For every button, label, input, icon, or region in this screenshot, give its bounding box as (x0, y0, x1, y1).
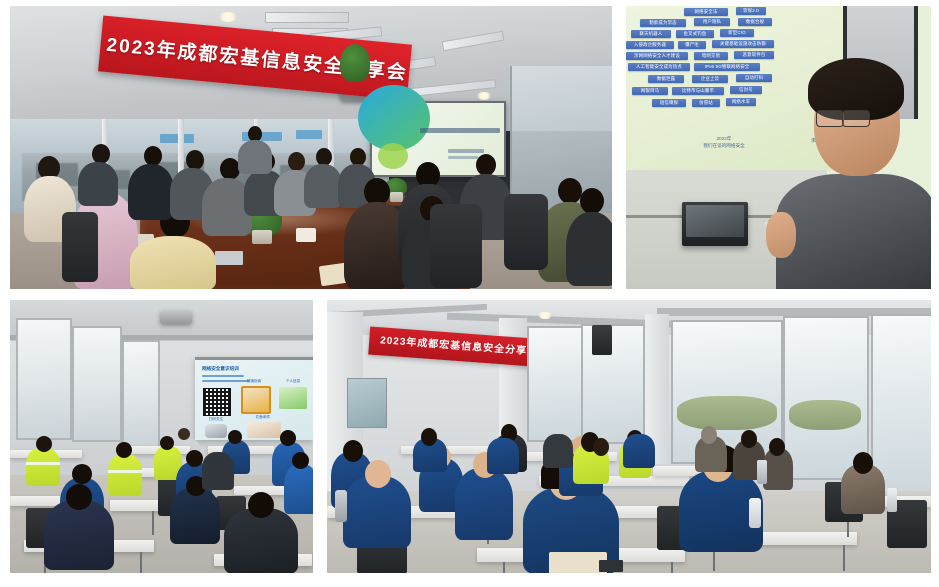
projection-screen: 网络安全意识培训 扫码关注 防骗指南 个人信息 钓鱼邮件 (195, 357, 313, 440)
laptop-screen (686, 205, 744, 237)
slide-tag: 入侵政企服务器 (626, 41, 674, 49)
downlight (218, 12, 238, 22)
person-head (769, 438, 785, 456)
person (128, 164, 174, 220)
person (566, 212, 612, 286)
person-head (186, 150, 204, 170)
slide-tile-image (241, 386, 271, 414)
attendee-blue-uniform (487, 438, 519, 474)
person-head (365, 460, 391, 488)
person-head (343, 440, 363, 462)
person-head (116, 442, 132, 458)
slide-graphic (358, 85, 430, 151)
panel-top-left-conference-room: 2023年成都宏基信息安全分享会 (10, 6, 612, 289)
person (304, 164, 342, 208)
slide-tile-image (279, 387, 307, 409)
slide-graphic (378, 143, 408, 169)
person-head (853, 452, 873, 474)
slide-date-bar (448, 156, 478, 159)
downlight (537, 312, 553, 319)
presenter-head (178, 428, 190, 440)
slide-tag: 短信嗅探 (652, 99, 686, 107)
slide-caption: 2022年 我们在谈的网络安全 (682, 135, 766, 149)
slide-tag: 新型CIO (720, 29, 754, 37)
thermos-bottle (335, 490, 347, 522)
person-head (476, 154, 496, 176)
slide-tag: 勒索成为常态 (640, 19, 686, 27)
slide-tag: 涉网网络安全人才建设 (626, 52, 688, 60)
qr-code-icon (203, 388, 231, 416)
attendee-blue-uniform (623, 434, 655, 468)
laptop-icon (682, 202, 748, 246)
window (122, 340, 160, 448)
slide-title-bar (420, 128, 500, 133)
slide-tag: 数据泄露 (648, 75, 684, 83)
person-head (186, 450, 203, 467)
slide-tag: 企业上云 (692, 75, 728, 83)
attendee-blue-uniform (284, 464, 313, 514)
attendee (44, 500, 114, 570)
attendee-safety-vest (108, 454, 142, 496)
outdoor-trees (677, 396, 777, 430)
tissue-box (296, 228, 316, 242)
slide-tile-image (247, 422, 281, 438)
window (527, 326, 583, 442)
water-bottle (887, 488, 897, 512)
slide-tile-image (205, 424, 227, 438)
slide-caption-year: 2022年 (682, 135, 766, 142)
plant-pot (390, 192, 403, 202)
slide-tag: 鱼叉式钓鱼 (676, 30, 714, 38)
person-head (72, 464, 92, 484)
slide-tile-label: 钓鱼邮件 (245, 415, 281, 420)
thermos-bottle (757, 460, 767, 484)
person-head (36, 436, 52, 452)
window (16, 318, 72, 440)
slide-tag: 恶意软件包 (734, 51, 774, 59)
slide-tag: 等保2.0 (736, 7, 766, 15)
photo-collage: 2023年成都宏基信息安全分享会 (0, 0, 939, 587)
plant (340, 44, 370, 82)
window (72, 326, 122, 442)
slide-tag: 网银目马 (632, 87, 668, 95)
glasses-icon (816, 110, 844, 127)
person-head (144, 146, 162, 166)
person-head (228, 430, 242, 444)
person-head (558, 178, 582, 204)
attendee-safety-vest (26, 448, 60, 486)
person-head (741, 430, 757, 448)
person-head (701, 426, 717, 444)
slide-tag: 僵尸毛 (678, 41, 706, 49)
attendee (170, 488, 220, 544)
office-chair (62, 212, 98, 282)
office-chair (430, 204, 482, 288)
slide-tag: 自动打码 (736, 74, 772, 82)
outdoor-trees (789, 400, 861, 430)
panel-bottom-left-classroom: 网络安全意识培训 扫码关注 防骗指南 个人信息 钓鱼邮件 (10, 300, 313, 573)
attendee (543, 434, 573, 468)
slide-caption-text: 我们在谈的网络安全 (682, 142, 766, 149)
person-head (92, 144, 110, 164)
person-head (580, 188, 604, 214)
downlight (476, 92, 492, 100)
person (130, 236, 216, 289)
slide-tag: 比特币与山寨币 (672, 87, 724, 95)
speaker-hand (766, 212, 796, 258)
attendee-blue-uniform (455, 468, 513, 540)
panel-top-right-speaker: 网络安全法 等保2.0 勒索成为常态 用户隐私 数据合规 聊天机器人 鱼叉式钓鱼… (626, 6, 931, 289)
slide-tag: 网络水军 (726, 98, 756, 106)
person-head (292, 452, 309, 469)
attendee (202, 452, 234, 490)
person-head (288, 152, 305, 171)
slide-tag: 数据合规 (738, 18, 772, 26)
speaker-box (592, 325, 612, 355)
slide-tag: 信封号 (730, 86, 762, 94)
person (238, 140, 272, 174)
person-head (593, 438, 609, 456)
phone-icon (599, 560, 623, 572)
phone-icon (215, 251, 243, 265)
person (78, 162, 118, 206)
person-head (248, 492, 274, 518)
slide-tag: 仿冒站 (692, 99, 720, 107)
slide-tile-label: 个人信息 (277, 379, 309, 384)
door-panel (347, 378, 387, 428)
person-head (160, 436, 174, 450)
glasses-icon (842, 110, 870, 127)
projector-icon (160, 310, 192, 324)
slide-tag: 聊天机器人 (631, 30, 671, 38)
plant-pot (252, 230, 272, 244)
ceiling-light-panel (265, 12, 349, 23)
slide-tag: IPv6 5G物联网络安全 (694, 63, 760, 71)
water-bottle (749, 498, 761, 528)
person-head (220, 158, 240, 180)
office-chair (504, 194, 548, 270)
slide-tag: 关键基础设施攻击防御 (712, 40, 774, 48)
slide-tile-label: 扫码关注 (199, 417, 233, 422)
window (671, 320, 783, 464)
slide-tag: 人工智能安全成为热点 (628, 63, 690, 71)
slide-tag: 暗网交易 (694, 52, 728, 60)
slide-tag: 网络安全法 (684, 8, 728, 16)
slide-subtitle-bar (448, 149, 484, 153)
slide-title: 网络安全意识培训 (202, 366, 239, 372)
panel-bottom-right-classroom: 2023年成都宏基信息安全分享会 (327, 300, 931, 573)
slide-tile-label: 防骗指南 (237, 379, 271, 384)
speaker-body (776, 174, 931, 289)
window (581, 324, 645, 444)
slide-tag: 用户隐私 (694, 18, 730, 26)
person-head (66, 484, 92, 510)
person-head (280, 430, 296, 446)
person-head (421, 428, 437, 446)
